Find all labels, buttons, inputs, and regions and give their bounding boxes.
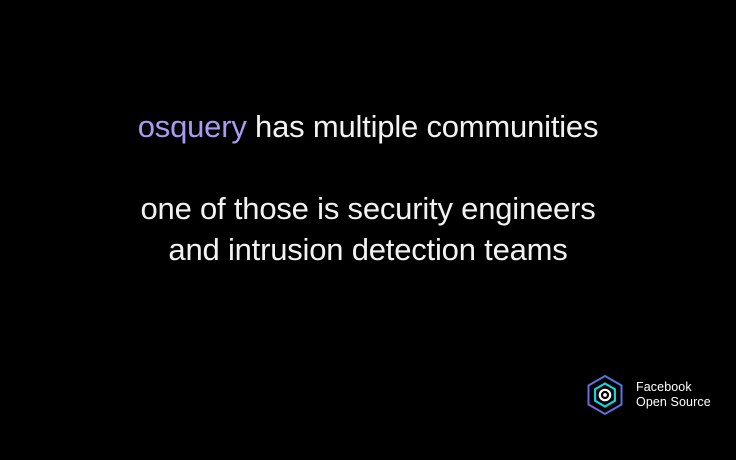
slide-line-3: and intrusion detection teams [0,229,736,270]
facebook-open-source-wordmark: Facebook Open Source [636,380,711,410]
slide-canvas: osquery has multiple communities one of … [0,0,736,460]
slide-line-1: osquery has multiple communities [0,106,736,147]
paragraph-spacer [0,147,736,188]
slide-line-2: one of those is security engineers [0,188,736,229]
slide-line-1-rest: has multiple communities [247,109,599,144]
logo-title-line-2: Open Source [636,395,711,410]
logo-title-line-1: Facebook [636,380,711,395]
slide-body: osquery has multiple communities one of … [0,106,736,270]
facebook-open-source-logo: Facebook Open Source [583,373,711,417]
osquery-brand-word: osquery [138,109,247,144]
hexagon-logo-icon [583,373,627,417]
